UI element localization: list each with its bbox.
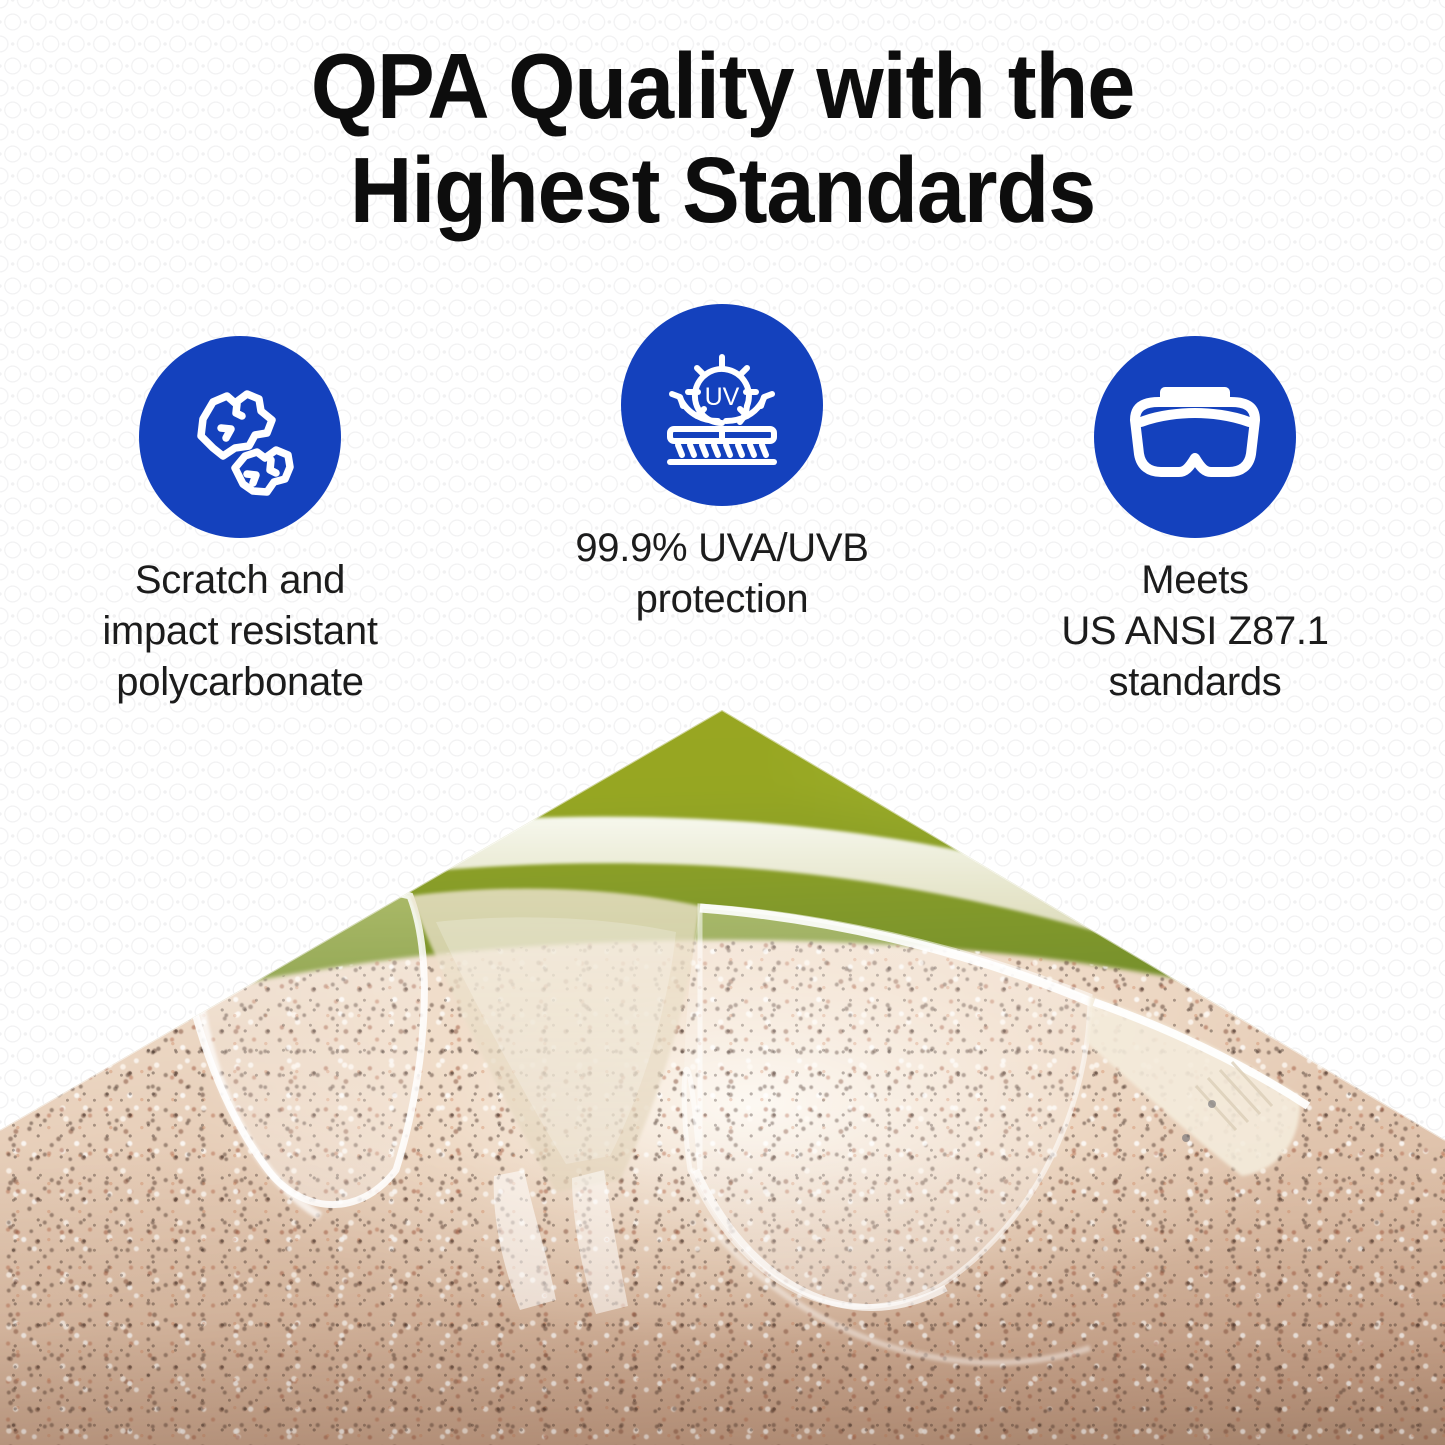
feature-icon-circle (139, 336, 341, 538)
feature-caption: 99.9% UVA/UVB protection (507, 523, 937, 625)
uv-icon-label: UV (705, 383, 740, 411)
feature-scratch-impact: Scratch and impact resistant polycarbona… (25, 336, 455, 709)
feature-caption-line: polycarbonate (25, 657, 455, 708)
page-title-line-2: Highest Standards (51, 138, 1395, 242)
feature-ansi-standards: Meets US ANSI Z87.1 standards (980, 336, 1410, 709)
feature-icon-circle: UV (621, 304, 823, 506)
uv-protection-sun-icon: UV (652, 335, 792, 475)
page-title: QPA Quality with the Highest Standards (0, 34, 1445, 242)
feature-caption-line: impact resistant (25, 606, 455, 657)
scratch-impact-rocks-icon (175, 372, 305, 502)
feature-uv-protection: UV (507, 304, 937, 625)
feature-caption-line: standards (980, 657, 1410, 708)
feature-caption: Meets US ANSI Z87.1 standards (980, 555, 1410, 709)
safety-goggles-icon (1125, 382, 1265, 492)
feature-caption-line: Scratch and (25, 555, 455, 606)
feature-caption: Scratch and impact resistant polycarbona… (25, 555, 455, 709)
product-infographic-poster: QPA Quality with the Highest Standards (0, 0, 1445, 1445)
feature-caption-line: US ANSI Z87.1 (980, 606, 1410, 657)
feature-caption-line: protection (507, 574, 937, 625)
page-title-line-1: QPA Quality with the (51, 34, 1395, 138)
photo-bottom-shading (0, 1145, 1445, 1445)
feature-caption-line: Meets (980, 555, 1410, 606)
feature-row: Scratch and impact resistant polycarbona… (0, 290, 1445, 750)
feature-caption-line: 99.9% UVA/UVB (507, 523, 937, 574)
feature-icon-circle (1094, 336, 1296, 538)
